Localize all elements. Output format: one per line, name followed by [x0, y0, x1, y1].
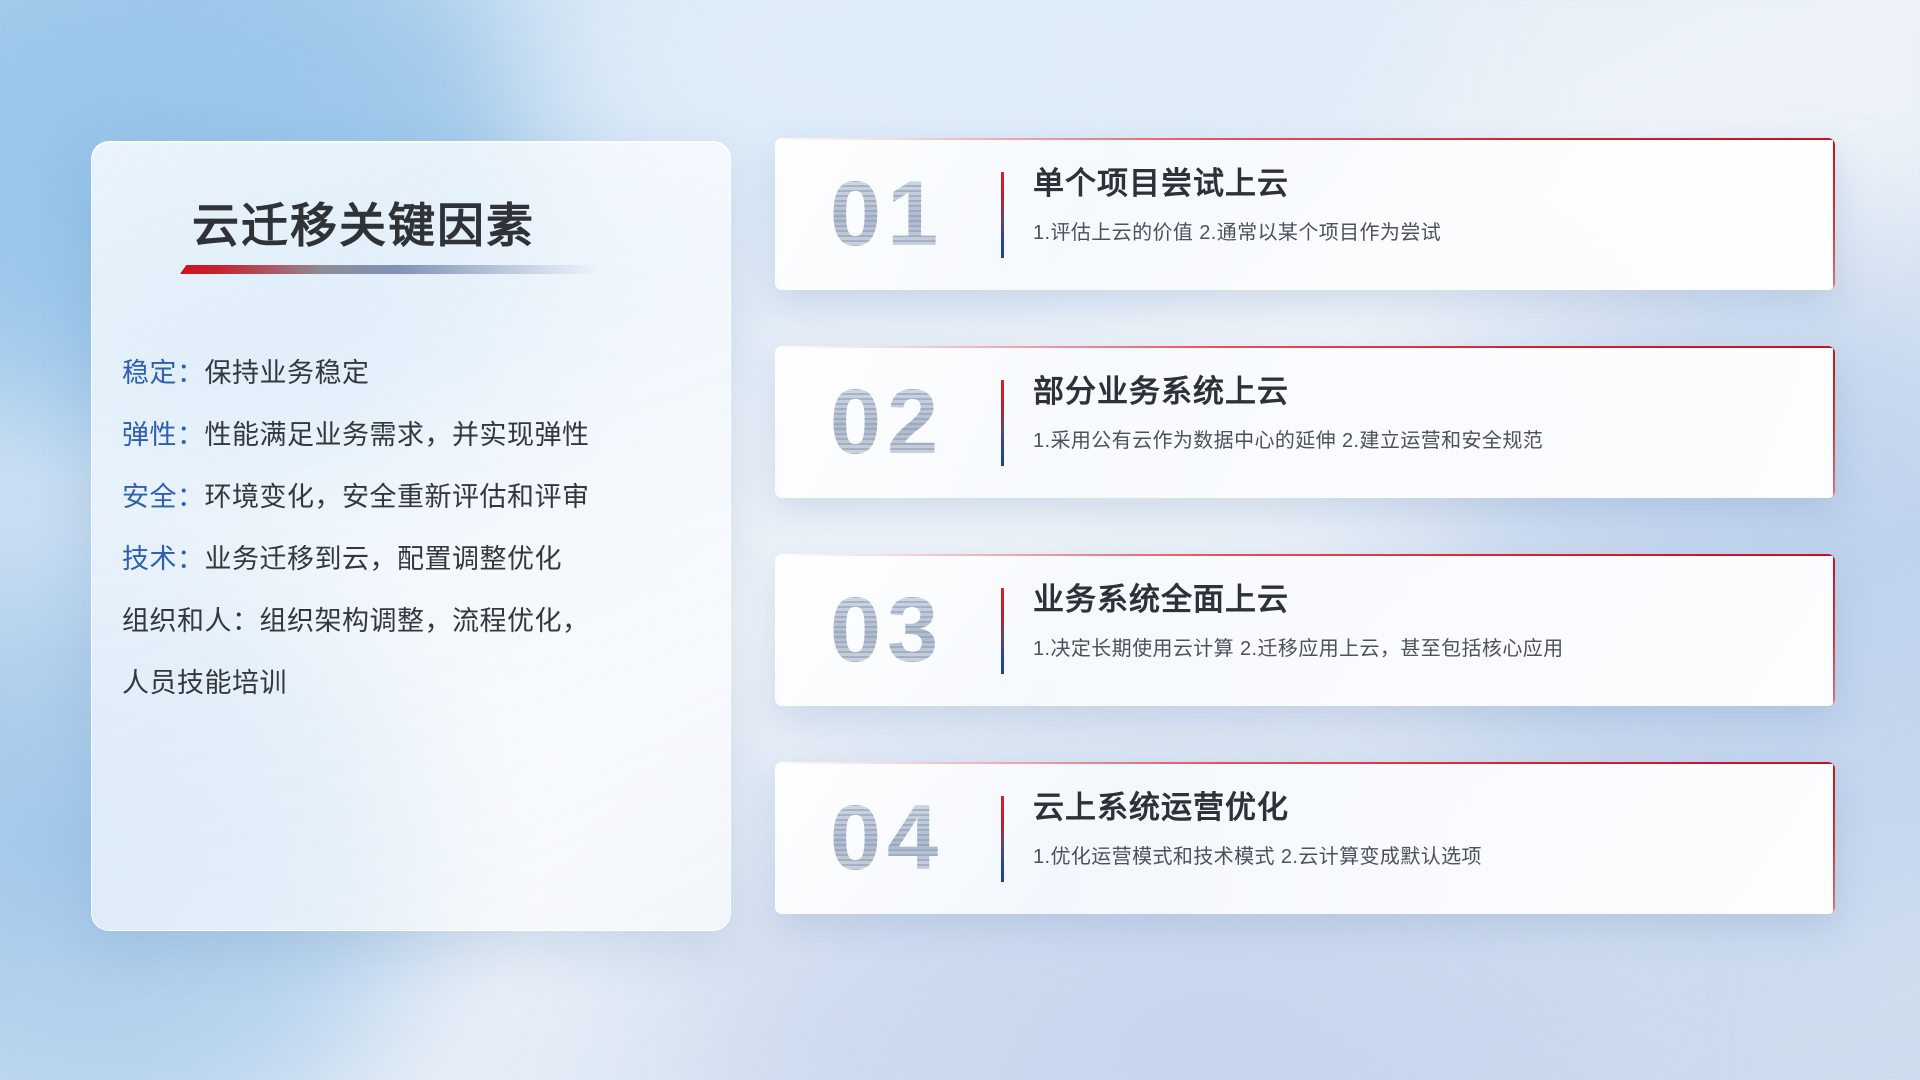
stage-card-body: 云上系统运营优化 1.优化运营模式和技术模式 2.云计算变成默认选项: [1033, 784, 1795, 872]
list-item: 技术：业务迁移到云，配置调整优化: [122, 528, 710, 590]
stage-card-body: 单个项目尝试上云 1.评估上云的价值 2.通常以某个项目作为尝试: [1033, 160, 1795, 248]
factor-value: 保持业务稳定: [205, 358, 370, 388]
accent-bar-icon: [1001, 172, 1004, 258]
stage-title: 业务系统全面上云: [1033, 576, 1795, 624]
title-underline-rule: [180, 265, 600, 274]
stage-card-01[interactable]: 01 单个项目尝试上云 1.评估上云的价值 2.通常以某个项目作为尝试: [775, 138, 1835, 290]
factor-label: 安全：: [122, 482, 205, 512]
stage-card-body: 业务系统全面上云 1.决定长期使用云计算 2.迁移应用上云，甚至包括核心应用: [1033, 576, 1795, 664]
factor-value: 环境变化，安全重新评估和评审: [205, 482, 590, 512]
migration-stage-cards: 01 单个项目尝试上云 1.评估上云的价值 2.通常以某个项目作为尝试 02 部…: [775, 138, 1835, 970]
factor-value-continuation: 人员技能培训: [122, 652, 710, 714]
stage-description: 1.采用公有云作为数据中心的延伸 2.建立运营和安全规范: [1033, 426, 1795, 456]
factor-value: 业务迁移到云，配置调整优化: [205, 544, 563, 574]
key-factors-list: 稳定：保持业务稳定 弹性：性能满足业务需求，并实现弹性 安全：环境变化，安全重新…: [122, 342, 710, 714]
list-item: 弹性：性能满足业务需求，并实现弹性: [122, 404, 710, 466]
accent-bar-icon: [1001, 588, 1004, 674]
stage-card-02[interactable]: 02 部分业务系统上云 1.采用公有云作为数据中心的延伸 2.建立运营和安全规范: [775, 346, 1835, 498]
stage-number: 03: [797, 566, 977, 694]
factor-value: 性能满足业务需求，并实现弹性: [205, 420, 590, 450]
list-item: 安全：环境变化，安全重新评估和评审: [122, 466, 710, 528]
stage-number: 04: [797, 774, 977, 902]
stage-description: 1.决定长期使用云计算 2.迁移应用上云，甚至包括核心应用: [1033, 634, 1795, 664]
stage-title: 云上系统运营优化: [1033, 784, 1795, 832]
stage-title: 单个项目尝试上云: [1033, 160, 1795, 208]
stage-number: 02: [797, 358, 977, 486]
factor-label: 技术：: [122, 544, 205, 574]
accent-bar-icon: [1001, 796, 1004, 882]
stage-card-03[interactable]: 03 业务系统全面上云 1.决定长期使用云计算 2.迁移应用上云，甚至包括核心应…: [775, 554, 1835, 706]
stage-description: 1.评估上云的价值 2.通常以某个项目作为尝试: [1033, 218, 1795, 248]
factor-value: 组织架构调整，流程优化，: [260, 606, 590, 636]
stage-title: 部分业务系统上云: [1033, 368, 1795, 416]
factor-label: 弹性：: [122, 420, 205, 450]
key-factors-panel: 云迁移关键因素 稳定：保持业务稳定 弹性：性能满足业务需求，并实现弹性 安全：环…: [91, 141, 731, 931]
list-item: 组织和人：组织架构调整，流程优化，: [122, 590, 710, 652]
stage-card-04[interactable]: 04 云上系统运营优化 1.优化运营模式和技术模式 2.云计算变成默认选项: [775, 762, 1835, 914]
list-item: 稳定：保持业务稳定: [122, 342, 710, 404]
factor-label: 组织和人：: [122, 606, 260, 636]
page-title: 云迁移关键因素: [192, 187, 535, 256]
slide-stage: 云迁移关键因素 稳定：保持业务稳定 弹性：性能满足业务需求，并实现弹性 安全：环…: [0, 0, 1920, 1080]
factor-label: 稳定：: [122, 358, 205, 388]
stage-card-body: 部分业务系统上云 1.采用公有云作为数据中心的延伸 2.建立运营和安全规范: [1033, 368, 1795, 456]
accent-bar-icon: [1001, 380, 1004, 466]
stage-number: 01: [797, 150, 977, 278]
stage-description: 1.优化运营模式和技术模式 2.云计算变成默认选项: [1033, 842, 1795, 872]
